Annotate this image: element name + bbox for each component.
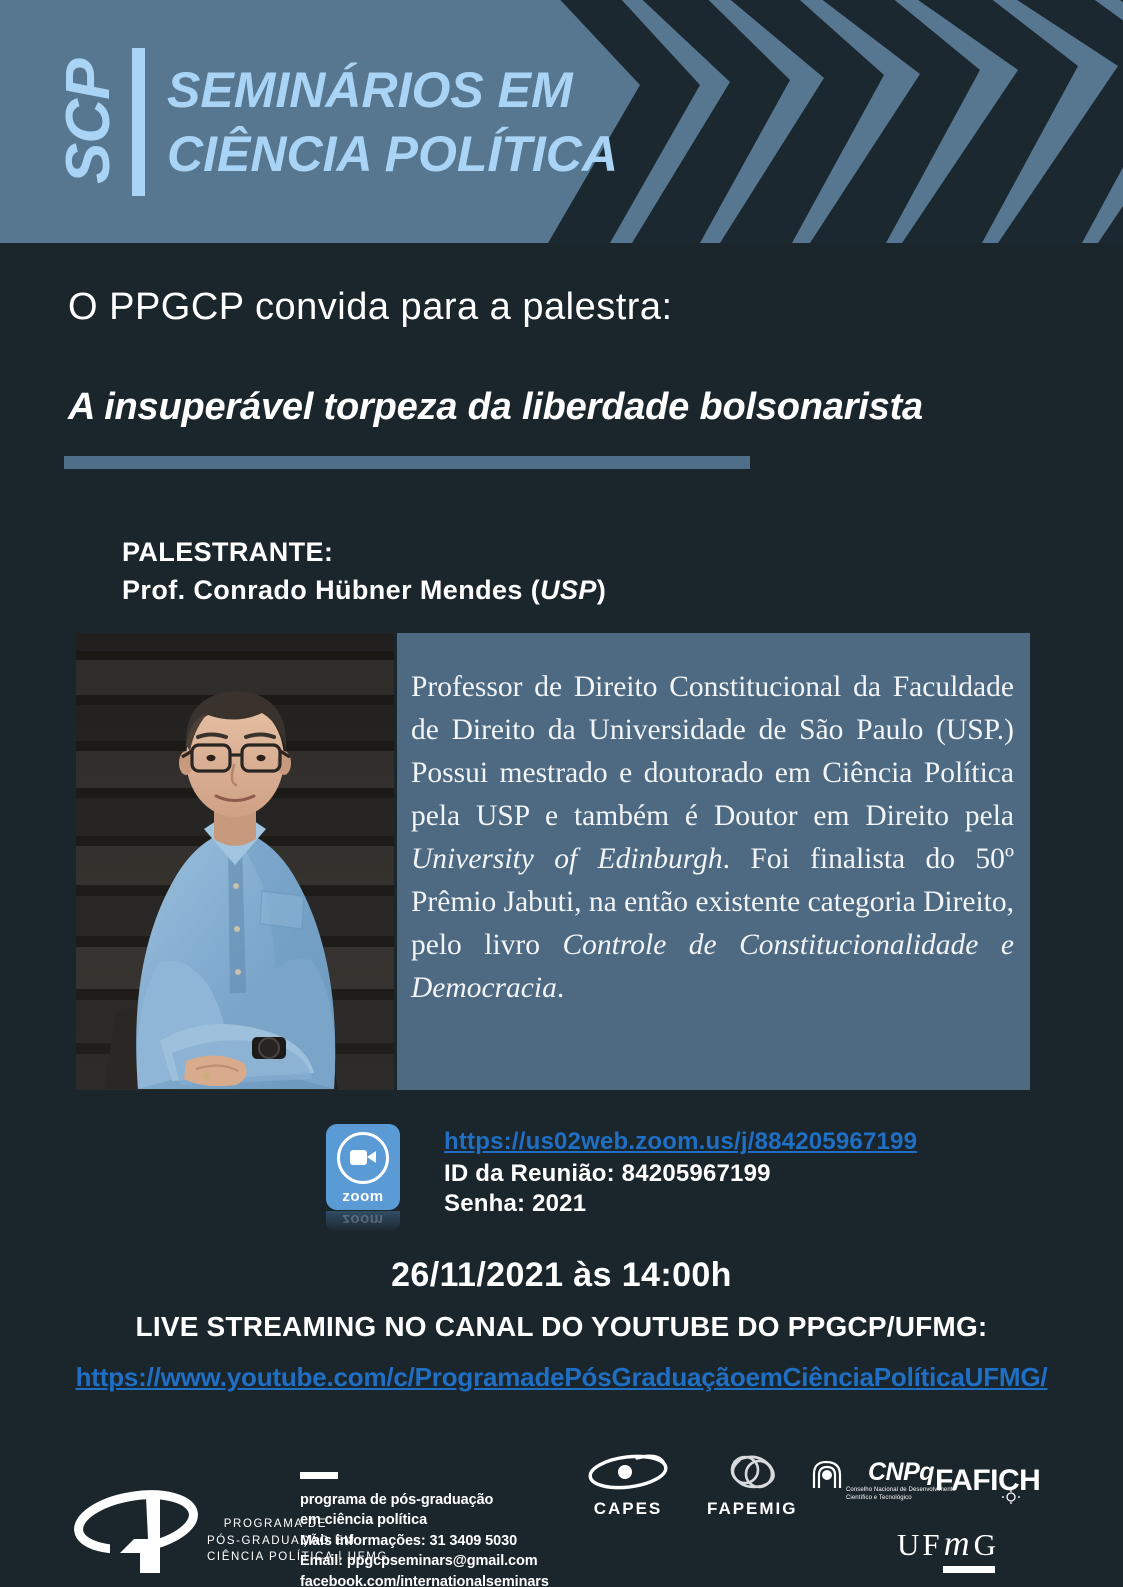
zoom-camera-icon: [337, 1132, 389, 1184]
header-title-line1: SEMINÁRIOS EM: [167, 58, 618, 122]
speaker-name-suffix: ): [597, 575, 606, 605]
sponsor-logos: CAPES FAPEMIG CNPq Co: [585, 1452, 1055, 1512]
zoom-meeting-password: Senha: 2021: [444, 1190, 917, 1218]
contact-facebook: facebook.com/internationalseminars: [300, 1572, 549, 1587]
ufmg-letter-g: G: [974, 1527, 999, 1563]
contact-email: Email: ppgcpseminars@gmail.com: [300, 1551, 549, 1571]
speaker-name-prefix: Prof. Conrado Hübner Mendes (: [122, 575, 540, 605]
speaker-portrait-image: [76, 633, 394, 1090]
camera-body-shape: [350, 1150, 367, 1165]
logo-divider-bar: [132, 48, 145, 196]
bio-part-1: Professor de Direito Constitucional da F…: [411, 671, 1014, 832]
scp-logo: SCP SEMINÁRIOS EM CIÊNCIA POLÍTICA: [58, 48, 618, 196]
contact-line-2: em ciência política: [300, 1510, 549, 1530]
cnpq-head-icon: [810, 1458, 844, 1492]
invitation-line: O PPGCP convida para a palestra:: [68, 286, 673, 329]
bio-italic-university: University of Edinburgh: [411, 843, 723, 875]
contact-phone: Mais informações: 31 3409 5030: [300, 1531, 549, 1551]
zoom-meeting-id: ID da Reunião: 84205967199: [444, 1160, 917, 1188]
capes-eye-icon: [585, 1452, 671, 1492]
ufmg-letter-m: m: [944, 1522, 973, 1564]
ppgcp-logo-mark: [74, 1477, 204, 1582]
scp-abbrev-text: SCP: [58, 48, 120, 196]
speaker-affiliation: USP: [540, 575, 597, 605]
capes-logo: CAPES: [585, 1452, 671, 1519]
speaker-photo: [76, 633, 394, 1090]
fafich-sun-icon: [1001, 1490, 1021, 1504]
zoom-icon-label: zoom: [342, 1188, 383, 1205]
zoom-app-icon[interactable]: zoom zoom: [326, 1124, 400, 1232]
fapemig-logo: FAPEMIG: [707, 1452, 798, 1519]
speaker-block: PALESTRANTE: Prof. Conrado Hübner Mendes…: [122, 537, 606, 606]
camera-lens-shape: [367, 1151, 376, 1163]
ppgcp-ellipse-p-icon: [74, 1477, 204, 1577]
speaker-bio-text: Professor de Direito Constitucional da F…: [411, 666, 1014, 1011]
header-title-line2: CIÊNCIA POLÍTICA: [167, 122, 618, 186]
event-poster: SCP SEMINÁRIOS EM CIÊNCIA POLÍTICA O PPG…: [0, 0, 1123, 1587]
zoom-icon-reflection: zoom: [326, 1211, 400, 1231]
ufmg-logo: U F m G: [897, 1522, 999, 1573]
bio-part-3: .: [557, 972, 564, 1004]
ufmg-letter-u: U: [897, 1527, 922, 1563]
contact-info-block: programa de pós-graduação em ciência pol…: [300, 1472, 549, 1587]
speaker-name: Prof. Conrado Hübner Mendes (USP): [122, 575, 606, 606]
capes-label: CAPES: [585, 1499, 671, 1519]
fapemig-knot-icon: [712, 1452, 792, 1492]
zoom-meeting-info: https://us02web.zoom.us/j/884205967199 I…: [444, 1128, 917, 1220]
poster-header: SCP SEMINÁRIOS EM CIÊNCIA POLÍTICA: [0, 0, 1123, 243]
fafich-logo: FAFICH: [935, 1464, 1040, 1498]
zoom-reflection-label: zoom: [342, 1211, 383, 1228]
title-divider-rule: [64, 456, 750, 469]
header-title: SEMINÁRIOS EM CIÊNCIA POLÍTICA: [167, 48, 618, 196]
fafich-label: FAFICH: [935, 1464, 1040, 1498]
talk-title: A insuperável torpeza da liberdade bolso…: [68, 386, 923, 429]
fapemig-label: FAPEMIG: [707, 1499, 798, 1519]
video-camera-icon: [350, 1150, 376, 1165]
ufmg-letter-f: F: [922, 1527, 942, 1563]
zoom-meeting-link[interactable]: https://us02web.zoom.us/j/884205967199: [444, 1128, 917, 1156]
speaker-bio-box: Professor de Direito Constitucional da F…: [397, 633, 1030, 1090]
zoom-icon-tile: zoom: [326, 1124, 400, 1210]
speaker-label: PALESTRANTE:: [122, 537, 606, 568]
contact-line-1: programa de pós-graduação: [300, 1490, 549, 1510]
ufmg-underline-bar: [943, 1566, 995, 1573]
youtube-channel-link[interactable]: https://www.youtube.com/c/ProgramadePósG…: [0, 1362, 1123, 1393]
ufmg-letters: U F m G: [897, 1522, 999, 1564]
live-streaming-label: LIVE STREAMING NO CANAL DO YOUTUBE DO PP…: [0, 1311, 1123, 1343]
contact-dash-decoration: [300, 1472, 338, 1479]
event-datetime: 26/11/2021 às 14:00h: [0, 1256, 1123, 1295]
